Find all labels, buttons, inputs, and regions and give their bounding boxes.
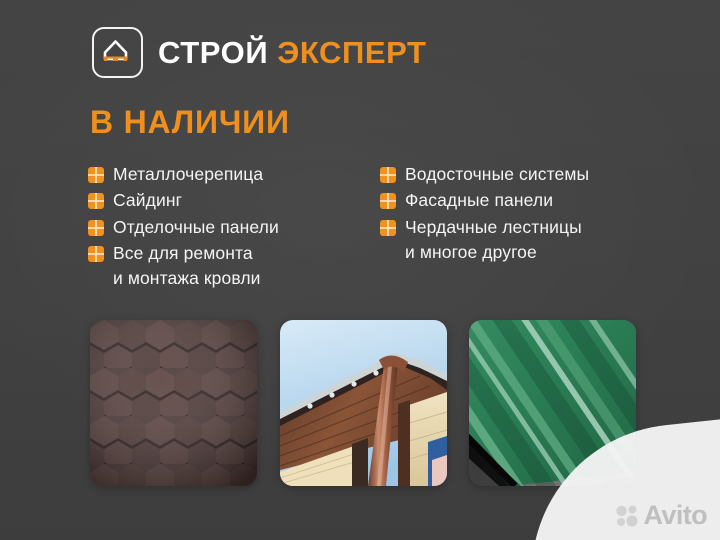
feature-list-right: Водосточные системы Фасадные панели Черд… bbox=[380, 163, 668, 290]
list-item: Фасадные панели bbox=[380, 189, 668, 215]
list-item-label: Фасадные панели bbox=[405, 189, 553, 212]
shingle-roof-photo bbox=[90, 320, 257, 486]
feature-list-left: Металлочерепица Сайдинг Отделочные панел… bbox=[88, 163, 380, 290]
list-item: Сайдинг bbox=[88, 189, 380, 215]
advertisement-banner: СТРОЙ ЭКСПЕРТ В НАЛИЧИИ Металлочерепица … bbox=[0, 0, 720, 540]
gutter-downspout-photo bbox=[280, 320, 447, 486]
brand-header: СТРОЙ ЭКСПЕРТ bbox=[92, 27, 427, 78]
feature-lists: Металлочерепица Сайдинг Отделочные панел… bbox=[88, 163, 668, 290]
orange-plus-square-bullet-icon bbox=[380, 220, 396, 236]
list-item: Водосточные системы bbox=[380, 163, 668, 189]
list-item: Чердачные лестницы и многое другое bbox=[380, 216, 668, 265]
list-item-label-continuation: и монтажа кровли bbox=[113, 267, 380, 290]
brand-name-secondary: ЭКСПЕРТ bbox=[277, 37, 426, 68]
brand-name-primary: СТРОЙ bbox=[158, 37, 268, 68]
list-item-label-continuation: и многое другое bbox=[405, 241, 668, 264]
page-title: В НАЛИЧИИ bbox=[90, 106, 290, 138]
orange-plus-square-bullet-icon bbox=[88, 167, 104, 183]
orange-plus-square-bullet-icon bbox=[88, 246, 104, 262]
orange-plus-square-bullet-icon bbox=[380, 167, 396, 183]
orange-plus-square-bullet-icon bbox=[88, 220, 104, 236]
avito-dots-icon bbox=[614, 503, 640, 529]
house-in-rounded-square-icon bbox=[92, 27, 143, 78]
list-item-label: Металлочерепица bbox=[113, 163, 263, 186]
product-photo-gallery bbox=[90, 320, 636, 486]
orange-plus-square-bullet-icon bbox=[380, 193, 396, 209]
list-item: Отделочные панели bbox=[88, 216, 380, 242]
list-item: Все для ремонта и монтажа кровли bbox=[88, 242, 380, 291]
brand-wordmark: СТРОЙ ЭКСПЕРТ bbox=[158, 37, 427, 68]
list-item-label: Все для ремонта bbox=[113, 242, 253, 265]
list-item-label: Водосточные системы bbox=[405, 163, 589, 186]
avito-watermark-label: Avito bbox=[644, 502, 708, 529]
avito-watermark: Avito bbox=[614, 502, 708, 529]
list-item-label: Отделочные панели bbox=[113, 216, 279, 239]
list-item-label: Чердачные лестницы bbox=[405, 216, 582, 239]
orange-plus-square-bullet-icon bbox=[88, 193, 104, 209]
list-item-label: Сайдинг bbox=[113, 189, 182, 212]
list-item: Металлочерепица bbox=[88, 163, 380, 189]
